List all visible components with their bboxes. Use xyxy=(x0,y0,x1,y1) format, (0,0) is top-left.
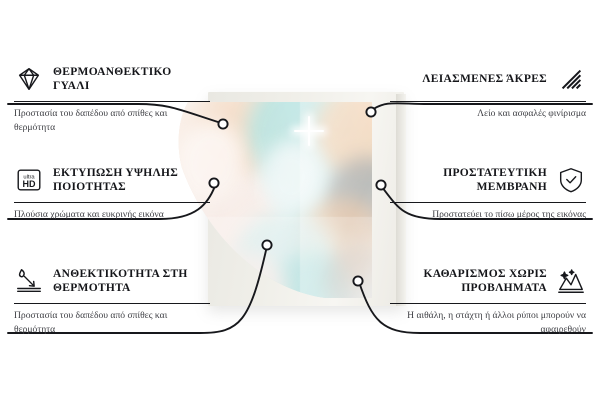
feature-heat-resistant-glass[interactable]: ΘΕΡΜΟΑΝΘΕΚΤΙΚΟ ΓΥΑΛΙ Προστασία του δαπέδ… xyxy=(14,62,210,134)
feature-subtitle: Προστατεύει το πίσω μέρος της εικόνας xyxy=(390,208,586,222)
feature-divider xyxy=(390,202,586,203)
feature-divider xyxy=(14,101,210,102)
feature-header: ΛΕΙΑΣΜΕΝΕΣ ΆΚΡΕΣ xyxy=(390,62,586,96)
feature-subtitle: Προστασία του δαπέδου από σπίθες και θερ… xyxy=(14,309,210,336)
feature-high-quality-print[interactable]: ultra HD ΕΚΤΥΠΩΣΗ ΥΨΗΛΗΣ ΠΟΙΟΤΗΤΑΣ Πλούσ… xyxy=(14,163,210,222)
feature-header: ΘΕΡΜΟΑΝΘΕΚΤΙΚΟ ΓΥΑΛΙ xyxy=(14,62,210,96)
feature-easy-cleaning[interactable]: ΚΑΘΑΡΙΣΜΟΣ ΧΩΡΙΣ ΠΡΟΒΛΗΜΑΤΑ Η αιθάλη, η … xyxy=(390,264,586,336)
diamond-icon xyxy=(14,64,44,94)
feature-title: ΛΕΙΑΣΜΕΝΕΣ ΆΚΡΕΣ xyxy=(422,72,547,86)
feature-header: ΚΑΘΑΡΙΣΜΟΣ ΧΩΡΙΣ ΠΡΟΒΛΗΜΑΤΑ xyxy=(390,264,586,298)
feature-title: ΑΝΘΕΚΤΙΚΟΤΗΤΑ ΣΤΗ ΘΕΡΜΟΤΗΤΑ xyxy=(53,267,210,295)
feature-subtitle: Προστασία του δαπέδου από σπίθες και θερ… xyxy=(14,107,210,134)
shield-check-icon xyxy=(556,165,586,195)
feature-subtitle: Η αιθάλη, η στάχτη ή άλλοι ρύποι μπορούν… xyxy=(390,309,586,336)
feature-divider xyxy=(390,101,586,102)
infographic-canvas: ΘΕΡΜΟΑΝΘΕΚΤΙΚΟ ΓΥΑΛΙ Προστασία του δαπέδ… xyxy=(0,0,600,400)
feature-heat-durability[interactable]: ΑΝΘΕΚΤΙΚΟΤΗΤΑ ΣΤΗ ΘΕΡΜΟΤΗΤΑ Προστασία το… xyxy=(14,264,210,336)
ultra-hd-icon: ultra HD xyxy=(14,165,44,195)
polished-edges-icon xyxy=(556,64,586,94)
feature-protective-membrane[interactable]: ΠΡΟΣΤΑΤΕΥΤΙΚΗ ΜΕΜΒΡΑΝΗ Προστατεύει το πί… xyxy=(390,163,586,222)
feature-divider xyxy=(14,303,210,304)
feature-title: ΘΕΡΜΟΑΝΘΕΚΤΙΚΟ ΓΥΑΛΙ xyxy=(53,65,210,93)
feature-polished-edges[interactable]: ΛΕΙΑΣΜΕΝΕΣ ΆΚΡΕΣ Λείο και ασφαλές φινίρι… xyxy=(390,62,586,121)
ultra-hd-large-label: HD xyxy=(23,179,36,189)
feature-divider xyxy=(14,202,210,203)
feature-title: ΚΑΘΑΡΙΣΜΟΣ ΧΩΡΙΣ ΠΡΟΒΛΗΜΑΤΑ xyxy=(390,267,547,295)
feature-header: ultra HD ΕΚΤΥΠΩΣΗ ΥΨΗΛΗΣ ΠΟΙΟΤΗΤΑΣ xyxy=(14,163,210,197)
feature-subtitle: Λείο και ασφαλές φινίρισμα xyxy=(390,107,586,121)
connector-dot-left-2 xyxy=(209,178,218,187)
feature-header: ΑΝΘΕΚΤΙΚΟΤΗΤΑ ΣΤΗ ΘΕΡΜΟΤΗΤΑ xyxy=(14,264,210,298)
feature-divider xyxy=(390,303,586,304)
feature-title: ΕΚΤΥΠΩΣΗ ΥΨΗΛΗΣ ΠΟΙΟΤΗΤΑΣ xyxy=(53,166,210,194)
flame-deflect-icon xyxy=(14,266,44,296)
feature-title: ΠΡΟΣΤΑΤΕΥΤΙΚΗ ΜΕΜΒΡΑΝΗ xyxy=(390,166,547,194)
sparkle-clean-icon xyxy=(556,266,586,296)
connector-dot-right-1 xyxy=(366,107,375,116)
feature-header: ΠΡΟΣΤΑΤΕΥΤΙΚΗ ΜΕΜΒΡΑΝΗ xyxy=(390,163,586,197)
connector-dot-right-2 xyxy=(376,180,385,189)
feature-subtitle: Πλούσια χρώματα και ευκρινής εικόνα xyxy=(14,208,210,222)
connector-dot-left-1 xyxy=(218,119,227,128)
connector-dot-right-3 xyxy=(353,276,362,285)
connector-dot-left-3 xyxy=(262,240,271,249)
